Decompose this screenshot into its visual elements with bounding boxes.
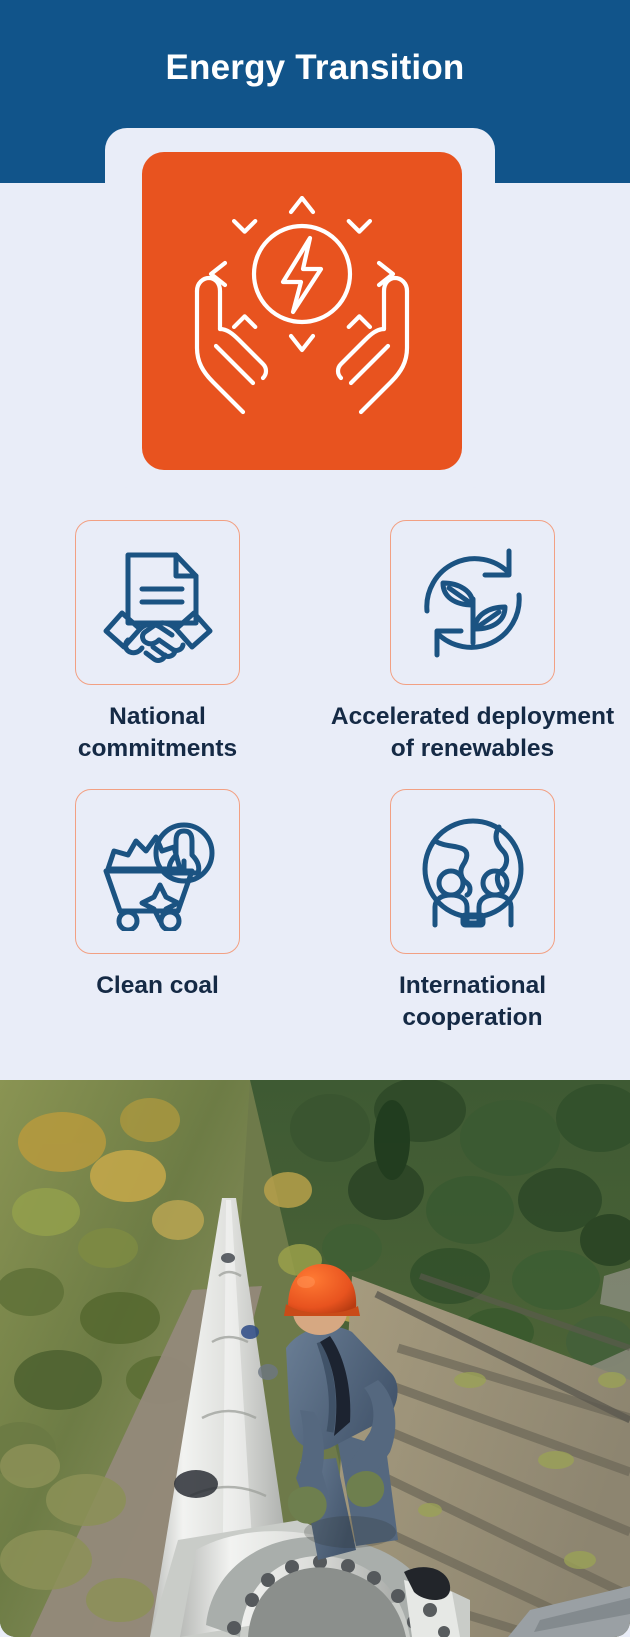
hands-holding-sun-energy-icon <box>177 196 427 426</box>
feature-row-2: Clean coal <box>0 789 630 1034</box>
feature-grid: National commitments <box>0 520 630 1033</box>
hero-icon-tile <box>142 152 462 470</box>
coal-cart-sparkle-icon <box>98 811 218 931</box>
feature-card-international-cooperation[interactable]: International cooperation <box>315 789 630 1034</box>
photo-illustration <box>0 1080 630 1637</box>
feature-label: International cooperation <box>323 970 623 1034</box>
handshake-document-icon <box>98 543 218 663</box>
plant-recycle-arrows-icon <box>413 543 533 663</box>
feature-card-clean-coal[interactable]: Clean coal <box>0 789 315 1034</box>
feature-row-1: National commitments <box>0 520 630 765</box>
globe-people-handshake-icon <box>413 811 533 931</box>
feature-label: National commitments <box>8 701 308 765</box>
feature-icon-box <box>390 520 555 685</box>
page-title: Energy Transition <box>0 48 630 88</box>
feature-label: Accelerated deployment of renewables <box>323 701 623 765</box>
feature-card-renewables[interactable]: Accelerated deployment of renewables <box>315 520 630 765</box>
feature-icon-box <box>75 520 240 685</box>
infographic-page: Energy Transition <box>0 0 630 1637</box>
feature-label: Clean coal <box>8 970 308 1002</box>
feature-card-national-commitments[interactable]: National commitments <box>0 520 315 765</box>
feature-icon-box <box>390 789 555 954</box>
feature-icon-box <box>75 789 240 954</box>
pipeline-worker-photo <box>0 1080 630 1637</box>
